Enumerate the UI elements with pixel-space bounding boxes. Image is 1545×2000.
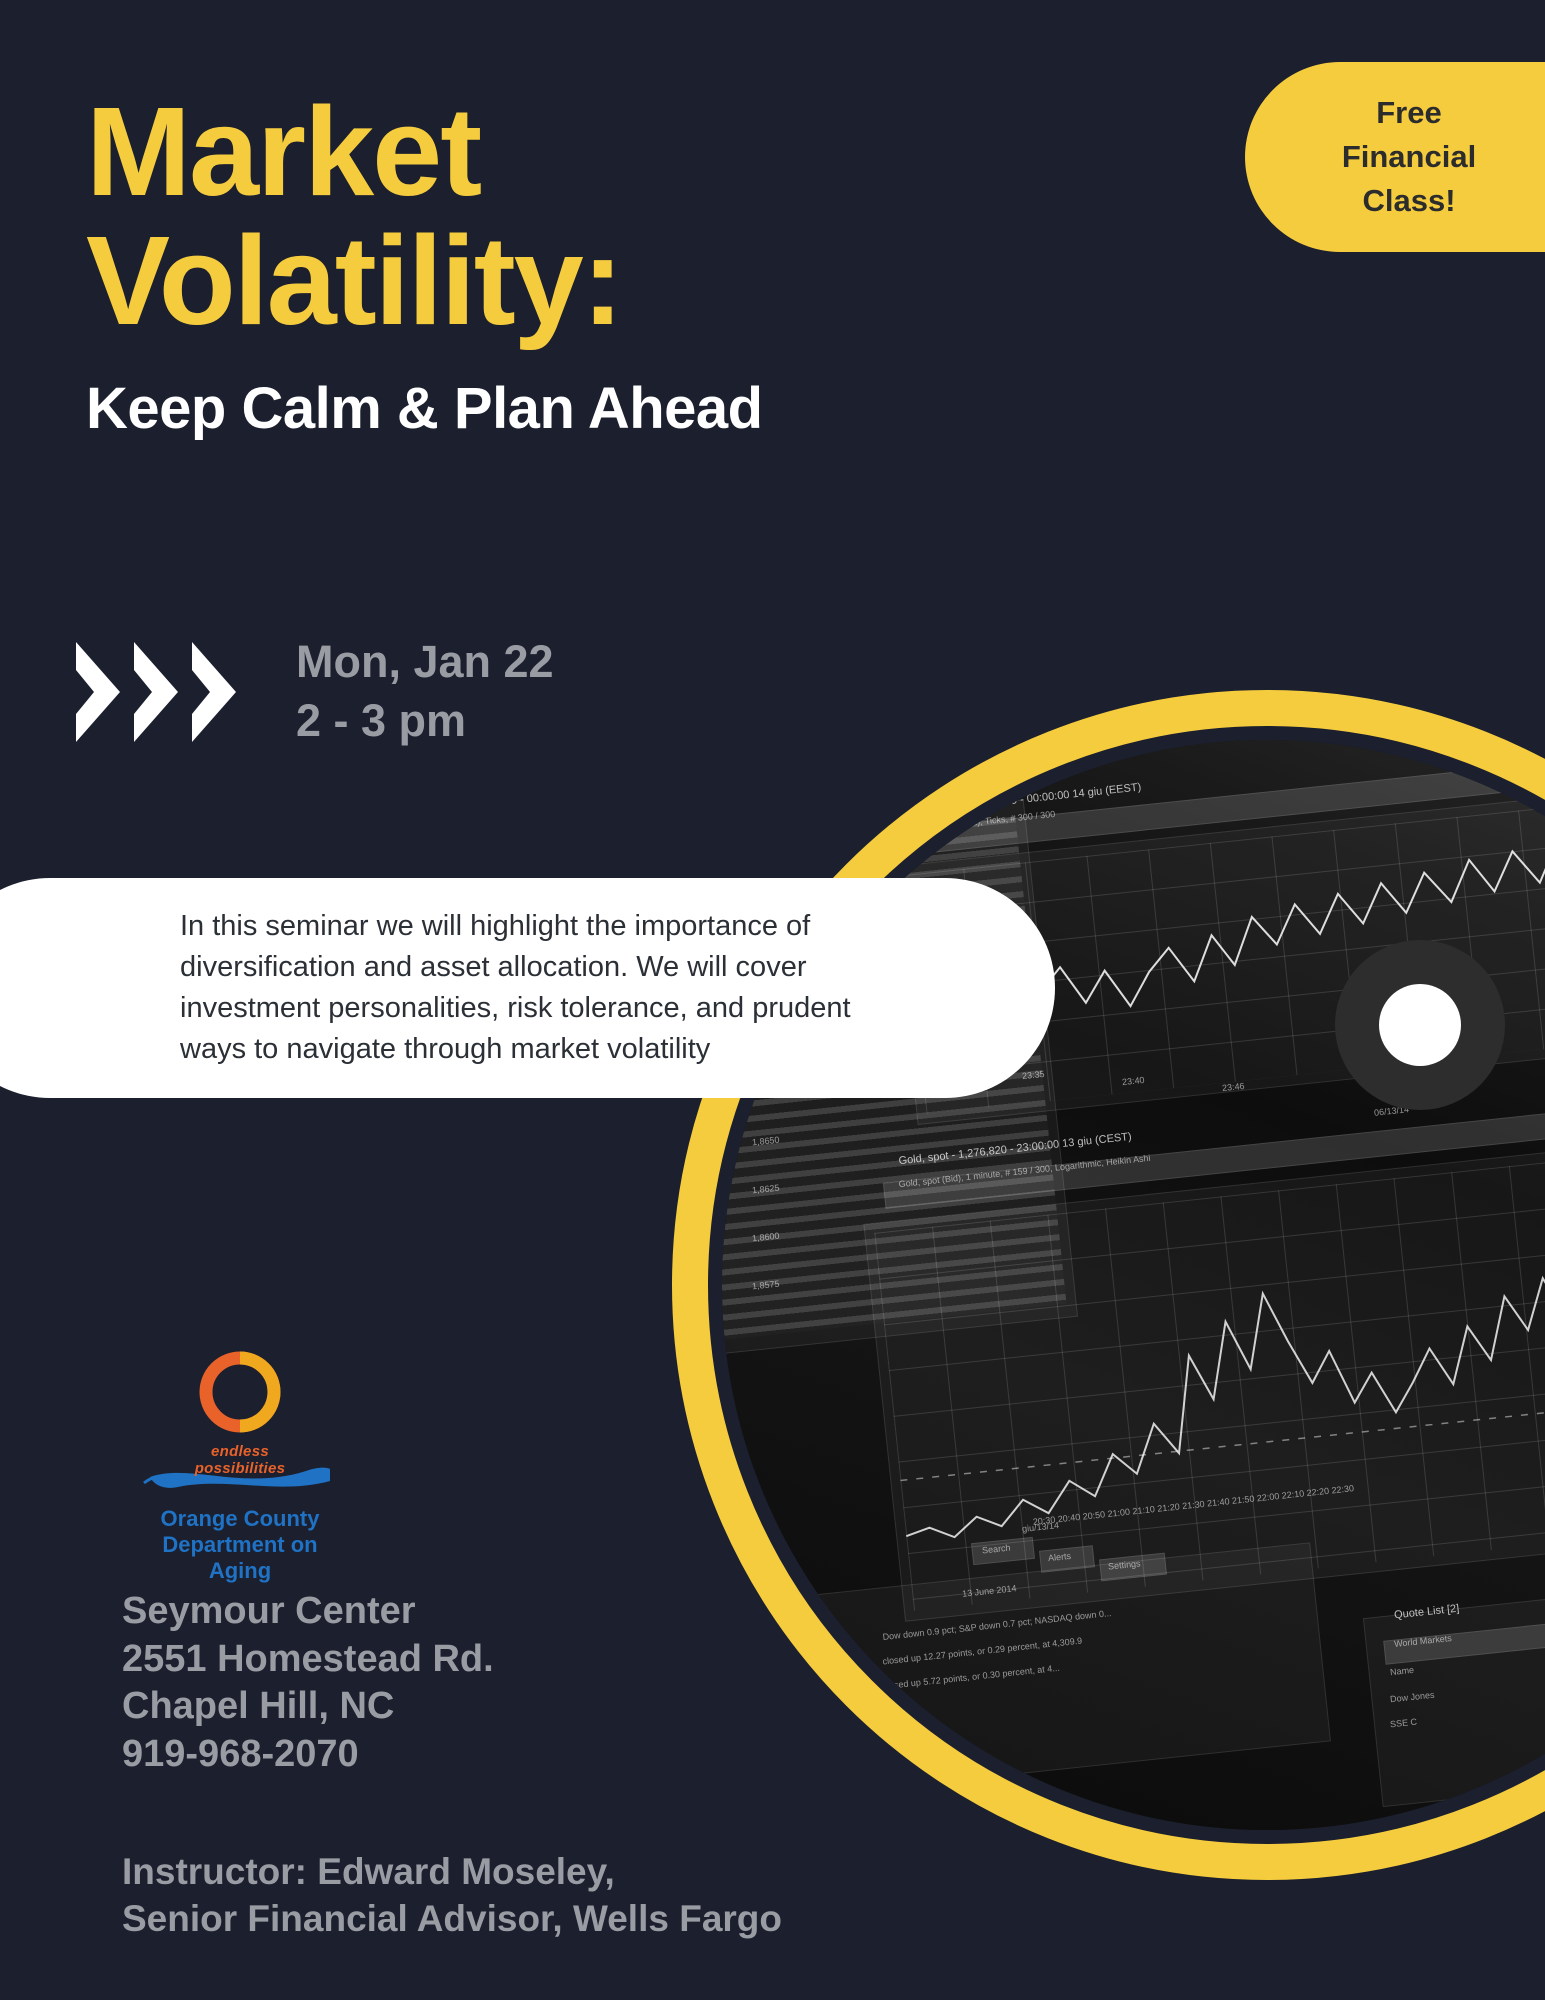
chevron-right-icon — [192, 642, 244, 742]
photo-eurusd-t3: 23:46 — [1222, 1081, 1245, 1093]
chevron-right-icon — [76, 642, 128, 742]
free-class-badge: Free Financial Class! — [1245, 62, 1545, 252]
badge-line-3: Class! — [1362, 179, 1455, 223]
event-datetime: Mon, Jan 22 2 - 3 pm — [76, 632, 554, 751]
badge-line-2: Financial — [1342, 135, 1476, 179]
logo-name-line-2: Department on Aging — [130, 1532, 350, 1584]
event-date: Mon, Jan 22 — [296, 632, 554, 691]
logo-name-line-1: Orange County — [130, 1506, 350, 1532]
chevron-right-icon — [134, 642, 186, 742]
page-title: Market Volatility: Keep Calm & Plan Ahea… — [86, 88, 763, 442]
description-text: In this seminar we will highlight the im… — [0, 906, 960, 1071]
event-datetime-text: Mon, Jan 22 2 - 3 pm — [296, 632, 554, 751]
badge-line-1: Free — [1376, 91, 1441, 135]
logo-tagline: endless possibilities — [193, 1443, 287, 1477]
triple-chevron-right-icon — [76, 642, 244, 742]
event-time: 2 - 3 pm — [296, 691, 554, 750]
logo-ring-icon: endless possibilities — [193, 1345, 287, 1439]
logo-circle-icon — [193, 1345, 287, 1439]
description-card: In this seminar we will highlight the im… — [0, 878, 1055, 1098]
dot-circle-inner — [1379, 984, 1461, 1066]
title-line-1: Market — [86, 88, 763, 217]
organization-logo: endless possibilities Orange County Depa… — [130, 1345, 350, 1584]
logo-name: Orange County Department on Aging — [130, 1506, 350, 1584]
flyer-canvas: EUR/USD - 1,35379 - 00:00:00 14 giu (EES… — [0, 0, 1545, 2000]
title-line-2: Volatility: — [86, 217, 763, 346]
page-subtitle: Keep Calm & Plan Ahead — [86, 375, 763, 442]
venue-address: Seymour Center 2551 Homestead Rd. Chapel… — [122, 1588, 494, 1778]
instructor-info: Instructor: Edward Moseley, Senior Finan… — [122, 1848, 782, 1943]
dot-circle-decoration — [1335, 940, 1505, 1110]
